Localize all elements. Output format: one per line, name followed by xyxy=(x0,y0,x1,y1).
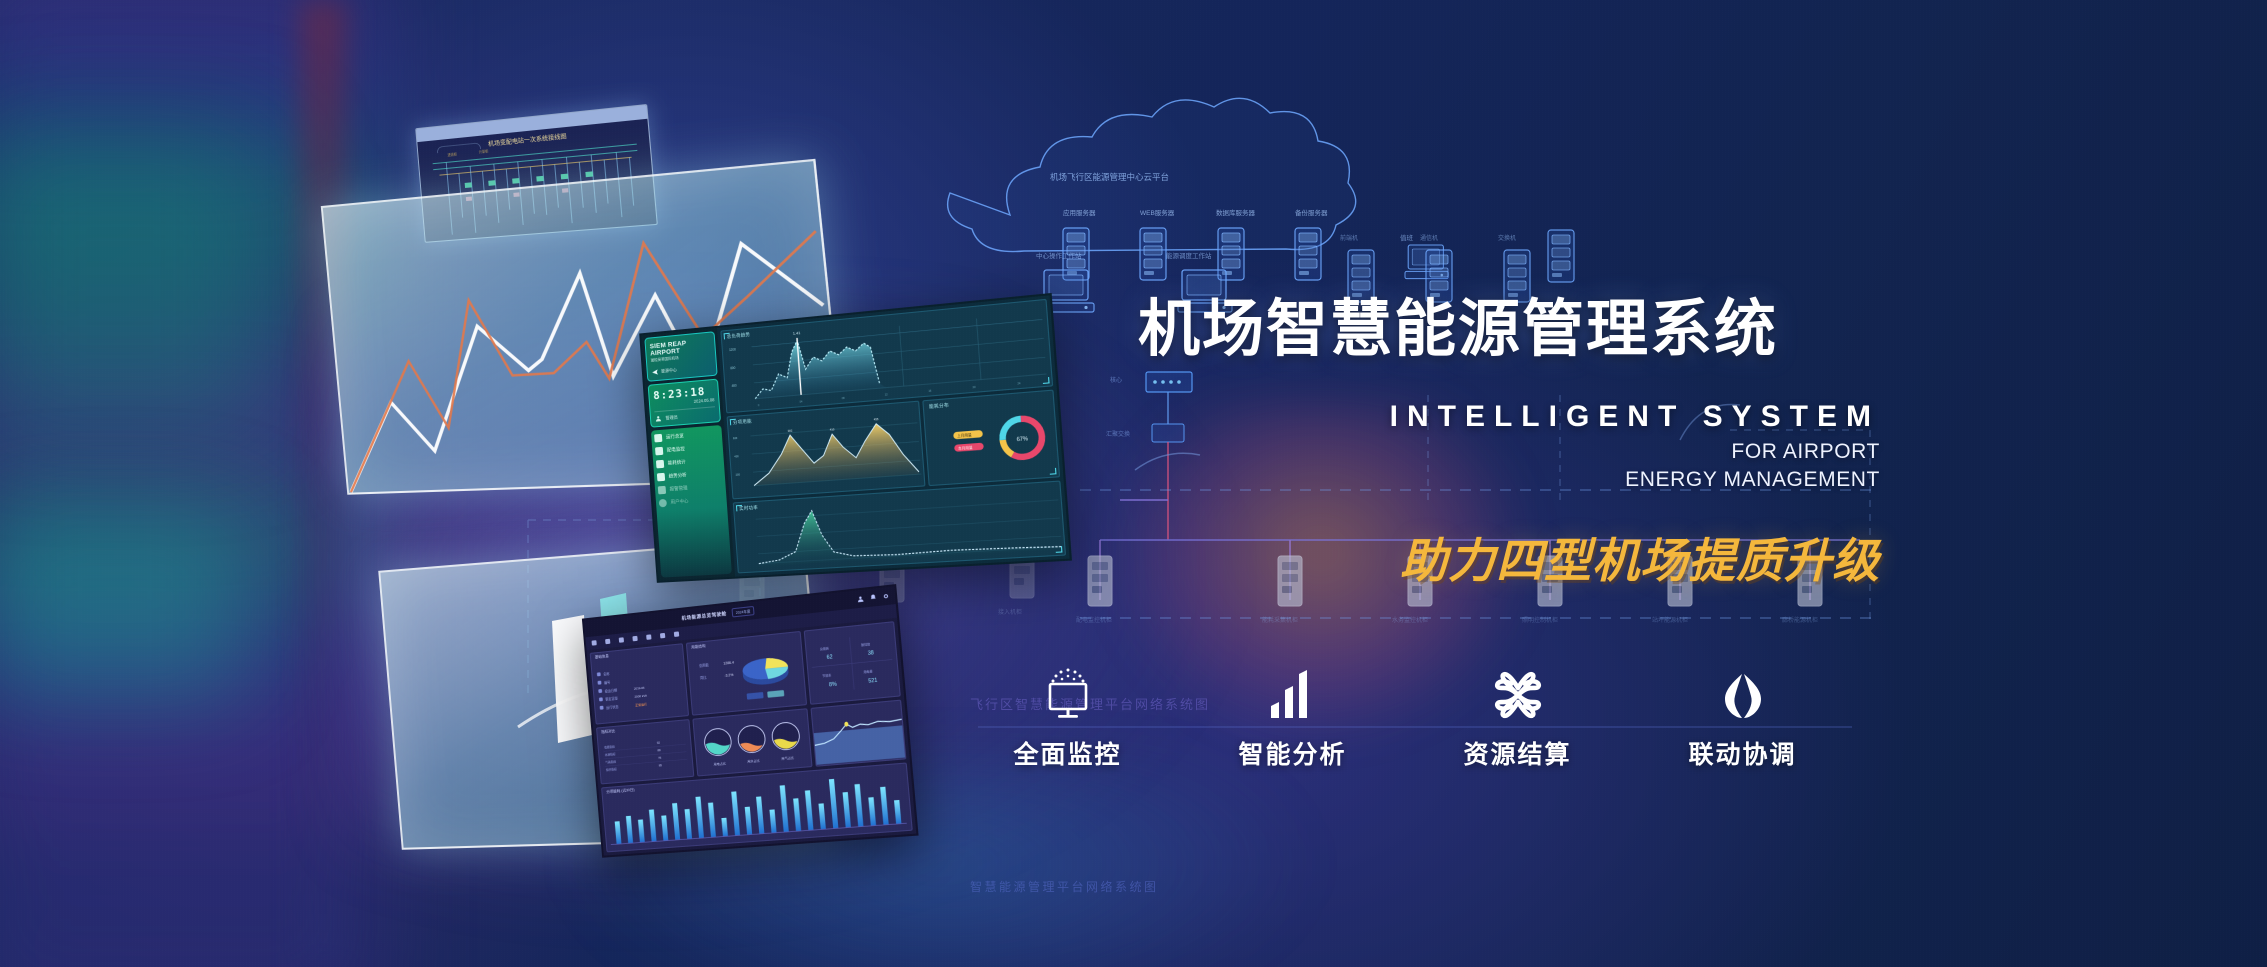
panel-load-curve[interactable] xyxy=(811,700,907,766)
svg-text:1286.4: 1286.4 xyxy=(723,661,734,666)
svg-text:接入机柜: 接入机柜 xyxy=(998,608,1022,616)
svg-text:总能耗: 总能耗 xyxy=(820,646,829,651)
home-icon xyxy=(654,434,662,443)
feature-label: 智能分析 xyxy=(1238,735,1346,771)
panel-gauges[interactable]: 用电占比 用水占比 用气占比 xyxy=(692,709,812,777)
menu-label: 用户中心 xyxy=(670,499,688,506)
card-title: 实时功率 xyxy=(739,505,758,512)
year-chip[interactable]: 2024年度 xyxy=(731,606,754,618)
svg-text:运行状态: 运行状态 xyxy=(606,704,619,710)
svg-text:08: 08 xyxy=(842,397,846,401)
subtitle-line-2: ENERGY MANAGEMENT xyxy=(1625,468,1880,491)
svg-text:电能指标: 电能指标 xyxy=(604,745,615,750)
svg-text:76: 76 xyxy=(658,756,662,760)
svg-text:能耗采集机柜: 能耗采集机柜 xyxy=(1262,616,1298,624)
subtitle-intelligent-system: INTELLIGENT SYSTEM xyxy=(1370,400,1880,434)
svg-text:455: 455 xyxy=(874,417,879,422)
dashboard-energy-teal[interactable]: SIEM REAPAIRPORT 暹粒吴哥国际机场 能源中心 8:23:18 2… xyxy=(639,293,1072,583)
network-topology-diagram: 机场飞行区能源管理中心云平台 应用服务器 WEB服务器 数据库服务器 备份服务器… xyxy=(0,0,2267,967)
menu-label: 配电监控 xyxy=(667,446,685,453)
svg-text:能源调度工作站: 能源调度工作站 xyxy=(1166,251,1212,260)
svg-text:名称: 名称 xyxy=(603,671,610,677)
menu-item-alarm[interactable]: 报警管理 xyxy=(658,482,723,495)
nav-icon-hvac[interactable] xyxy=(632,636,637,642)
svg-text:同比: 同比 xyxy=(700,675,707,681)
svg-text:0: 0 xyxy=(758,404,760,407)
feature-item-coordination[interactable]: 联动协调 xyxy=(1630,668,1855,771)
svg-text:04: 04 xyxy=(799,401,803,405)
svg-text:配电监控机柜: 配电监控机柜 xyxy=(1076,616,1112,624)
svg-text:照明控制机柜: 照明控制机柜 xyxy=(1522,616,1558,624)
user-icon xyxy=(655,415,662,423)
chart-area-subitem: 382410455 600400200 xyxy=(728,402,925,499)
svg-text:400: 400 xyxy=(734,454,739,459)
subtitle-line-1: FOR AIRPORT xyxy=(1731,440,1880,463)
airport-brand-row: 能源中心 xyxy=(651,363,712,376)
scada-title-text: 机场变配电站一次系统接线图 xyxy=(488,132,567,148)
feature-label: 资源结算 xyxy=(1463,735,1571,771)
svg-text:92: 92 xyxy=(657,741,661,745)
svg-text:用电量: 用电量 xyxy=(863,669,872,674)
feature-item-monitor[interactable]: 全面监控 xyxy=(955,668,1180,771)
gauge-water: 用水占比 xyxy=(736,725,768,765)
svg-text:站坪能源机柜: 站坪能源机柜 xyxy=(1652,616,1688,624)
nav-icon-light[interactable] xyxy=(619,637,624,643)
svg-text:气耗指标: 气耗指标 xyxy=(605,760,616,765)
feature-row: 全面监控 智能分析 xyxy=(955,668,1855,771)
gauge-label: 用电占比 xyxy=(713,760,726,766)
tagline: 助力四型机场提质升级 xyxy=(1340,522,1880,591)
svg-text:机场飞行区能源管理中心云平台: 机场飞行区能源管理中心云平台 xyxy=(1050,172,1169,183)
panel-today-data[interactable]: 总能耗碳排放 节能率用电量 6238 8%521 xyxy=(804,621,901,705)
svg-text:WEB服务器: WEB服务器 xyxy=(1140,208,1175,217)
svg-text:水务监控机柜: 水务监控机柜 xyxy=(1392,616,1428,624)
svg-text:38: 38 xyxy=(868,650,875,657)
nav-icon-overview[interactable] xyxy=(592,640,597,645)
airport-brand-row-label: 能源中心 xyxy=(661,367,677,374)
svg-text:前端机: 前端机 xyxy=(1340,234,1358,242)
dashboard-purple-grid: 基础信息 名称编号 投运日期额定容量运行状态 2019-062000 kVA 正… xyxy=(586,618,916,856)
corner-accent xyxy=(1042,377,1049,384)
svg-text:碳排放: 碳排放 xyxy=(861,642,870,647)
svg-text:16: 16 xyxy=(928,390,932,394)
panel-kpi-content: 总能耗碳排放 节能率用电量 6238 8%521 xyxy=(805,622,900,704)
svg-text:20: 20 xyxy=(973,386,977,390)
svg-text:水耗指标: 水耗指标 xyxy=(605,752,616,757)
dashboard-teal-body: SIEM REAPAIRPORT 暹粒吴哥国际机场 能源中心 8:23:18 2… xyxy=(639,293,1072,583)
settings-icon xyxy=(659,499,667,508)
airport-brand-card: SIEM REAPAIRPORT 暹粒吴哥国际机场 能源中心 xyxy=(644,331,717,382)
bell-icon[interactable] xyxy=(869,594,877,602)
svg-text:廊桥能源机柜: 廊桥能源机柜 xyxy=(1782,616,1818,624)
menu-label: 能耗统计 xyxy=(668,459,686,466)
gauge-label: 用气占比 xyxy=(781,755,794,761)
svg-text:正常运行: 正常运行 xyxy=(635,701,647,707)
pie-legend xyxy=(747,690,785,700)
svg-text:12: 12 xyxy=(885,393,889,397)
nav-icon-alarm[interactable] xyxy=(674,631,679,637)
svg-text:8%: 8% xyxy=(829,681,838,688)
dashboard-teal-main: 总负荷趋势 1.41 xyxy=(717,295,1069,576)
user-label: 管理员 xyxy=(665,414,678,421)
svg-text:应用服务器: 应用服务器 xyxy=(1063,208,1096,217)
feature-label: 联动协调 xyxy=(1688,735,1796,771)
banner-stage: 机场飞行区能源管理中心云平台 应用服务器 WEB服务器 数据库服务器 备份服务器… xyxy=(0,0,2267,967)
svg-text:382: 382 xyxy=(788,428,793,433)
user-icon[interactable] xyxy=(856,595,864,603)
nav-icon-charger[interactable] xyxy=(660,633,665,639)
chart-icon xyxy=(657,473,665,482)
panel-load-curve-content xyxy=(812,701,905,765)
watermark-lower: 智慧能源管理平台网络系统图 xyxy=(970,878,1159,895)
svg-text:88: 88 xyxy=(657,748,661,752)
panel-energy-structure[interactable]: 用能结构 总用能同比 1286.4-3.2% xyxy=(686,631,807,716)
dashboard-cockpit-purple[interactable]: 机场能源总览驾驶舱 2024年度 xyxy=(582,584,919,858)
svg-text:汇聚交换: 汇聚交换 xyxy=(1106,430,1130,438)
menu-label: 运行总览 xyxy=(666,433,684,440)
gear-icon[interactable] xyxy=(882,592,890,600)
dashboard-teal-menu: 运行总览 配电监控 能耗统计 趋势分析 xyxy=(651,425,732,577)
svg-text:交换机: 交换机 xyxy=(1498,234,1516,242)
svg-text:核心: 核心 xyxy=(1110,376,1122,384)
gauge-gas: 用气占比 xyxy=(770,722,802,762)
subtitle-for-airport-energy: FOR AIRPORT ENERGY MANAGEMENT xyxy=(1370,438,1880,495)
menu-item-overview[interactable]: 运行总览 xyxy=(654,430,719,443)
interlock-icon xyxy=(1715,668,1771,722)
dashboard-purple-body: 机场能源总览驾驶舱 2024年度 xyxy=(582,584,919,858)
panel-gauges-content: 用电占比 用水占比 用气占比 xyxy=(693,710,811,775)
svg-text:410: 410 xyxy=(830,427,835,432)
svg-text:通信机: 通信机 xyxy=(1420,234,1438,242)
nav-icon-power[interactable] xyxy=(605,639,610,645)
menu-label: 趋势分析 xyxy=(669,473,687,480)
gauge-power: 用电占比 xyxy=(703,728,735,767)
menu-item-trend[interactable]: 趋势分析 xyxy=(657,469,722,482)
svg-text:计量柜: 计量柜 xyxy=(479,148,489,154)
dashboard-purple-title: 机场能源总览驾驶舱 xyxy=(681,610,727,621)
page-title: 机场智慧能源管理系统 xyxy=(1138,278,1878,368)
menu-item-consumption[interactable]: 能耗统计 xyxy=(656,456,721,469)
grid-icon xyxy=(655,447,663,456)
svg-text:400: 400 xyxy=(731,383,737,388)
svg-text:综合指标: 综合指标 xyxy=(606,767,617,772)
svg-text:2019-06: 2019-06 xyxy=(634,685,645,690)
gauge-label: 用水占比 xyxy=(747,758,760,764)
svg-text:2000 kVA: 2000 kVA xyxy=(634,694,647,699)
svg-text:-3.2%: -3.2% xyxy=(724,673,733,678)
svg-text:投运日期: 投运日期 xyxy=(605,687,618,693)
monitor-icon xyxy=(1038,668,1098,722)
svg-text:24: 24 xyxy=(1017,382,1021,386)
svg-text:值班: 值班 xyxy=(1400,233,1414,242)
svg-text:85: 85 xyxy=(659,763,663,767)
corner-accent xyxy=(1049,468,1056,475)
user-row[interactable]: 管理员 xyxy=(654,407,715,423)
svg-text:编号: 编号 xyxy=(604,679,611,685)
four-petal-icon xyxy=(1491,668,1545,722)
feature-item-settlement[interactable]: 资源结算 xyxy=(1405,668,1630,771)
svg-text:中心操作工作站: 中心操作工作站 xyxy=(1036,251,1082,260)
svg-text:进线柜: 进线柜 xyxy=(447,151,457,157)
alarm-icon xyxy=(658,486,666,495)
donut-legend: 上月用量 本月用量 xyxy=(953,430,984,452)
svg-text:节能率: 节能率 xyxy=(822,673,831,678)
panel-basic-info[interactable]: 基础信息 名称编号 投运日期额定容量运行状态 2019-062000 kVA 正… xyxy=(590,643,689,725)
svg-text:200: 200 xyxy=(736,472,741,477)
menu-item-power[interactable]: 配电监控 xyxy=(655,443,720,456)
bar-chart-icon xyxy=(1265,668,1321,722)
svg-text:1.41: 1.41 xyxy=(793,331,801,336)
menu-label: 报警管理 xyxy=(669,486,687,493)
menu-item-user[interactable]: 用户中心 xyxy=(659,495,724,507)
corner-accent xyxy=(1055,546,1062,553)
card-subitem-energy[interactable]: 分项用能 382410455 xyxy=(727,401,926,500)
card-energy-distribution[interactable]: 能耗分布 67% 上月用量 本月用量 xyxy=(922,390,1060,487)
svg-text:62: 62 xyxy=(827,654,834,661)
donut-center-value: 67% xyxy=(1016,436,1028,443)
svg-text:800: 800 xyxy=(730,365,736,370)
svg-text:1200: 1200 xyxy=(729,347,736,352)
svg-text:521: 521 xyxy=(868,677,878,684)
plane-icon xyxy=(651,368,658,376)
gauge-icon xyxy=(656,460,664,469)
feature-item-analysis[interactable]: 智能分析 xyxy=(1180,668,1405,771)
svg-text:数据库服务器: 数据库服务器 xyxy=(1216,208,1256,217)
feature-label: 全面监控 xyxy=(1013,735,1121,771)
clock-card: 8:23:18 2024.05.08 管理员 xyxy=(648,379,721,428)
nav-icon-water[interactable] xyxy=(646,634,651,640)
svg-text:600: 600 xyxy=(733,436,738,441)
svg-text:额定容量: 额定容量 xyxy=(605,696,618,702)
panel-index-compare[interactable]: 指标对比 电能指标水耗指标 气耗指标综合指标 9288 7685 xyxy=(596,719,694,784)
svg-text:总用能: 总用能 xyxy=(699,662,710,668)
svg-text:备份服务器: 备份服务器 xyxy=(1295,208,1328,217)
